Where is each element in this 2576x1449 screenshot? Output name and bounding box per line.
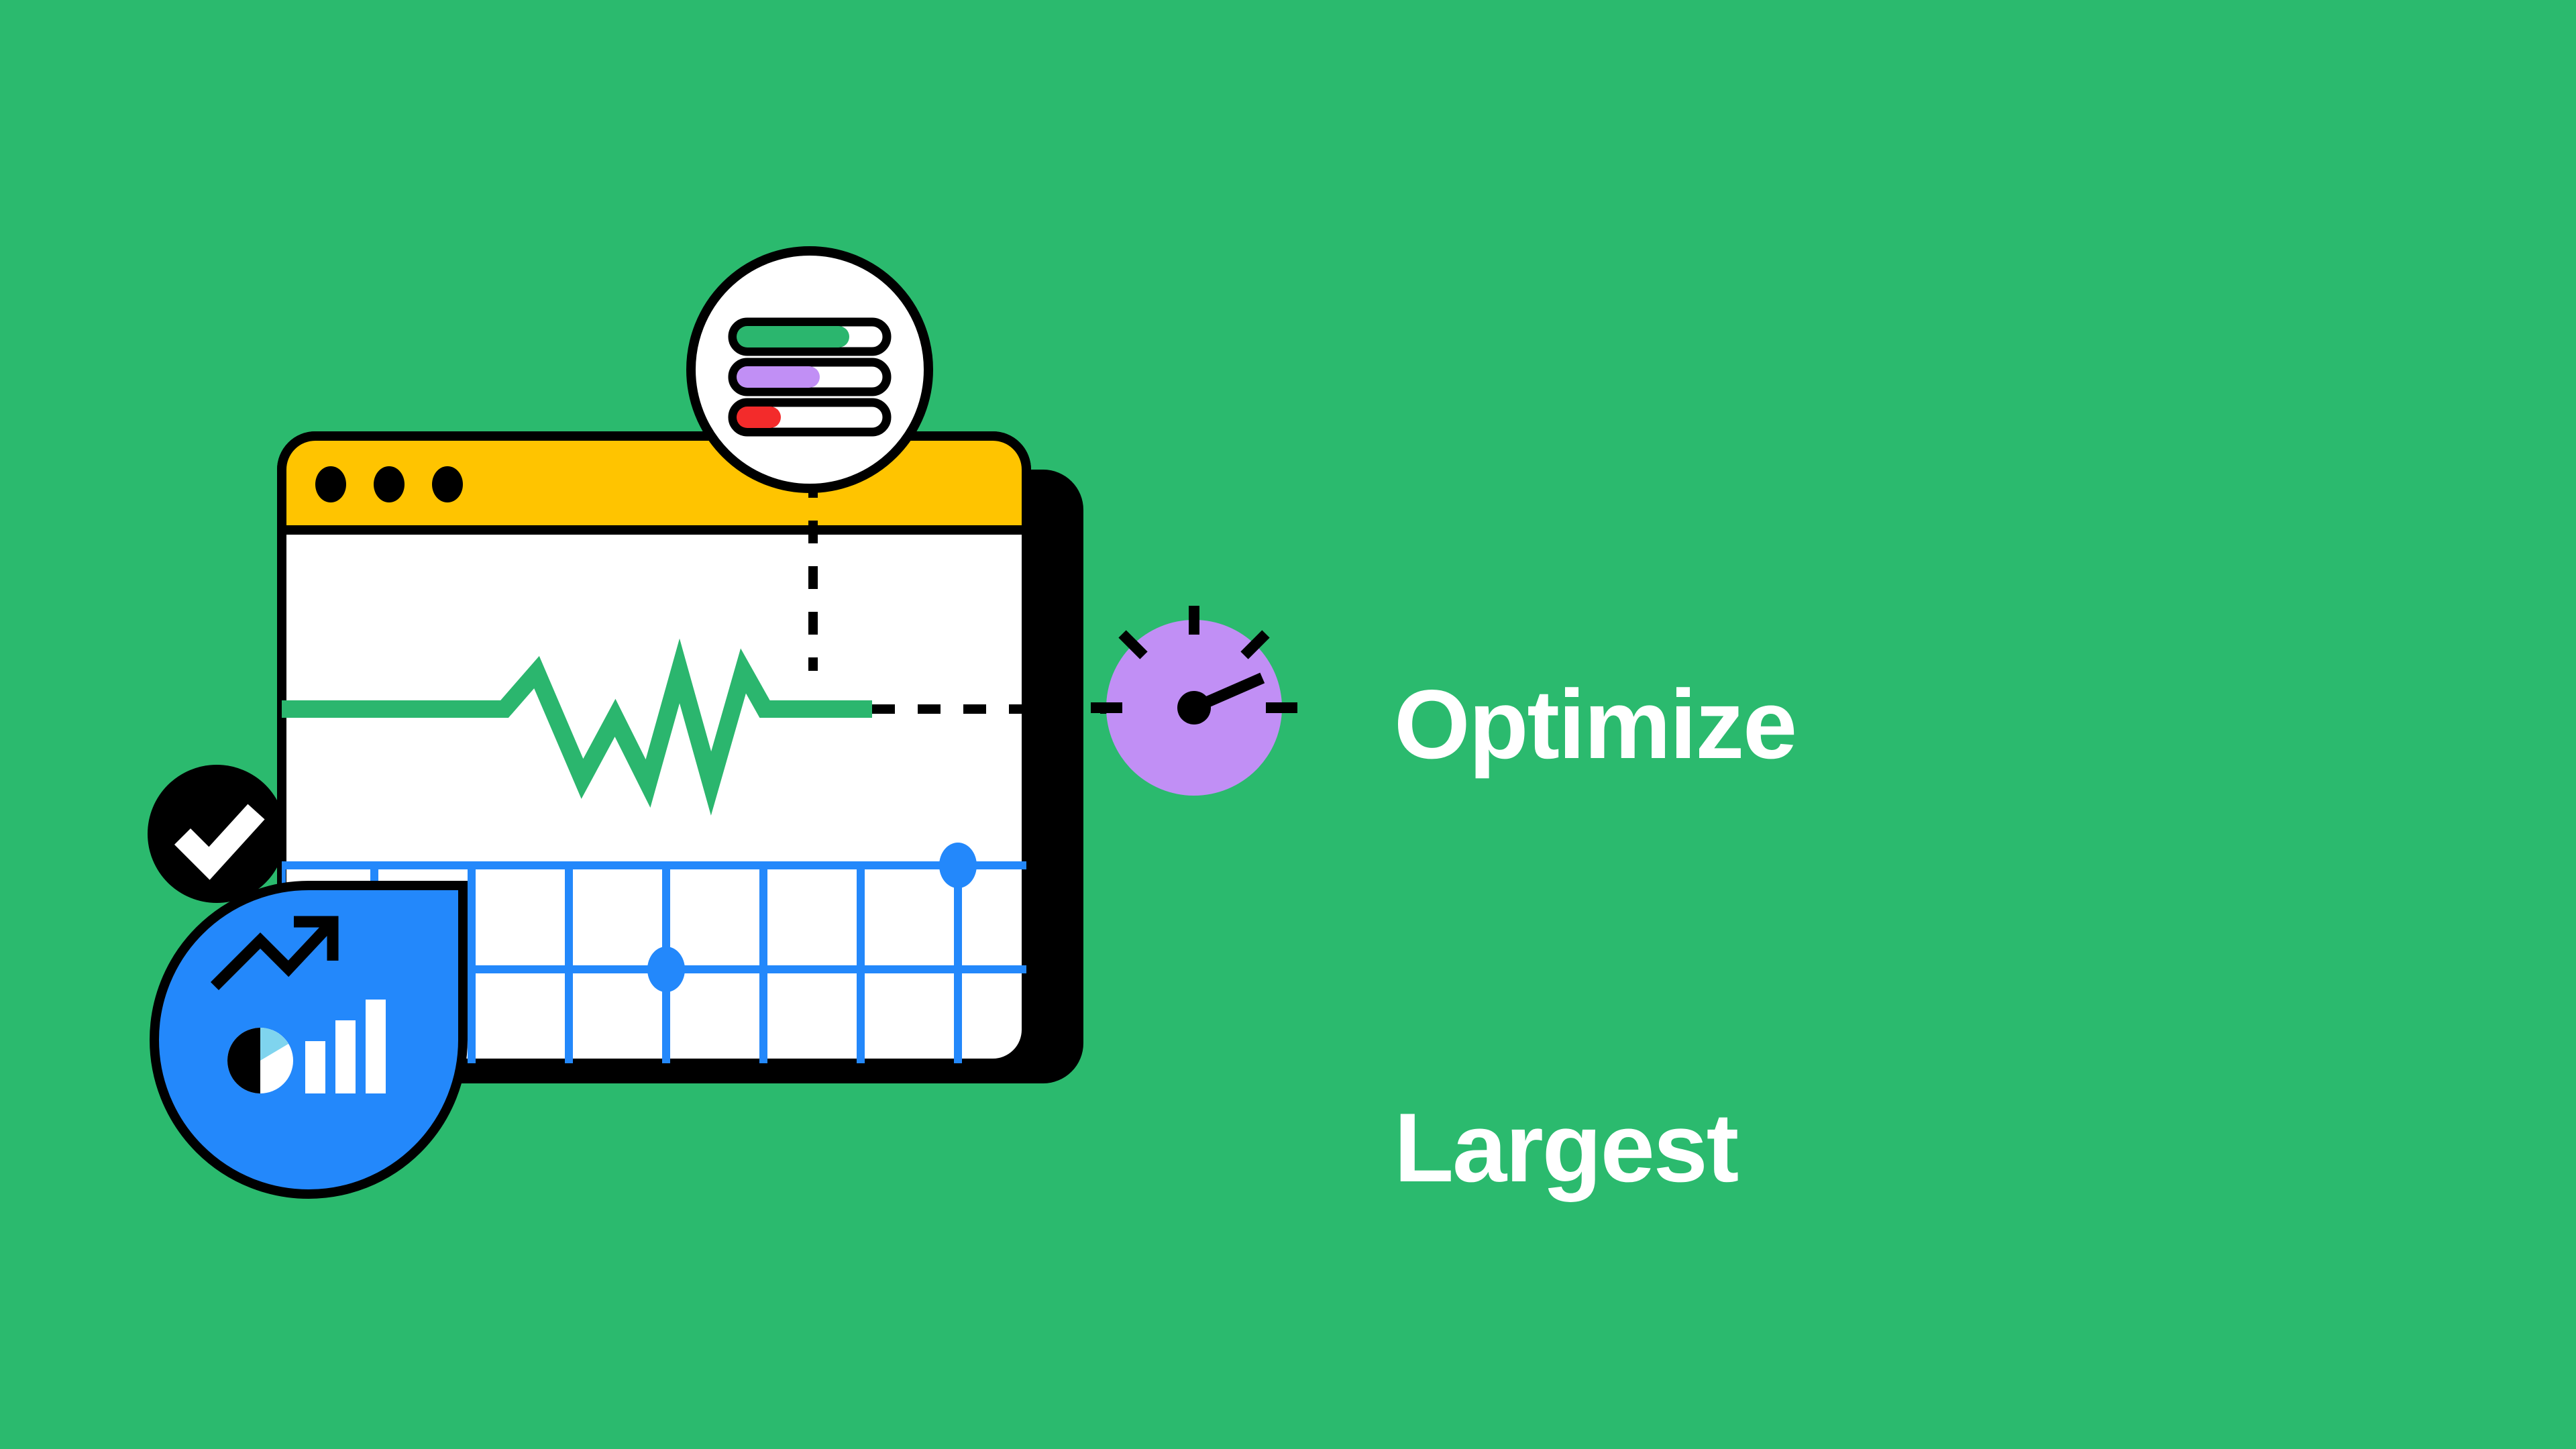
data-point-2[interactable]: [939, 843, 977, 888]
check-badge-circle: [148, 765, 286, 903]
red-metric-bar-fill: [737, 407, 781, 428]
traffic-light-close-icon[interactable]: [315, 466, 346, 502]
poster-canvas: Optimize Largest Contentful Paint: [0, 0, 2576, 1449]
data-point-1[interactable]: [647, 947, 685, 992]
gauge-tick-upper-left: [1122, 634, 1144, 655]
traffic-light-minimize-icon[interactable]: [374, 466, 405, 502]
bar-chart-bar-2: [335, 1020, 356, 1093]
traffic-light-maximize-icon[interactable]: [432, 466, 463, 502]
bar-chart-bar-3: [366, 1000, 386, 1093]
gauge-hub: [1177, 691, 1211, 724]
green-metric-bar-fill: [737, 326, 849, 347]
headline-line-2: Largest: [1394, 1077, 2400, 1218]
metrics-badge[interactable]: [691, 251, 928, 488]
gauge-tick-upper-right: [1244, 634, 1266, 655]
analytics-badge[interactable]: [154, 885, 463, 1194]
page-title: Optimize Largest Contentful Paint: [1394, 372, 2400, 1449]
headline-line-1: Optimize: [1394, 654, 2400, 795]
pie-chart-icon: [227, 1028, 293, 1093]
purple-metric-bar-fill: [737, 366, 820, 388]
check-badge[interactable]: [148, 765, 286, 903]
analytics-badge-shape: [154, 885, 463, 1194]
gauge-badge[interactable]: [1091, 606, 1297, 796]
bar-chart-bar-1: [305, 1041, 325, 1093]
